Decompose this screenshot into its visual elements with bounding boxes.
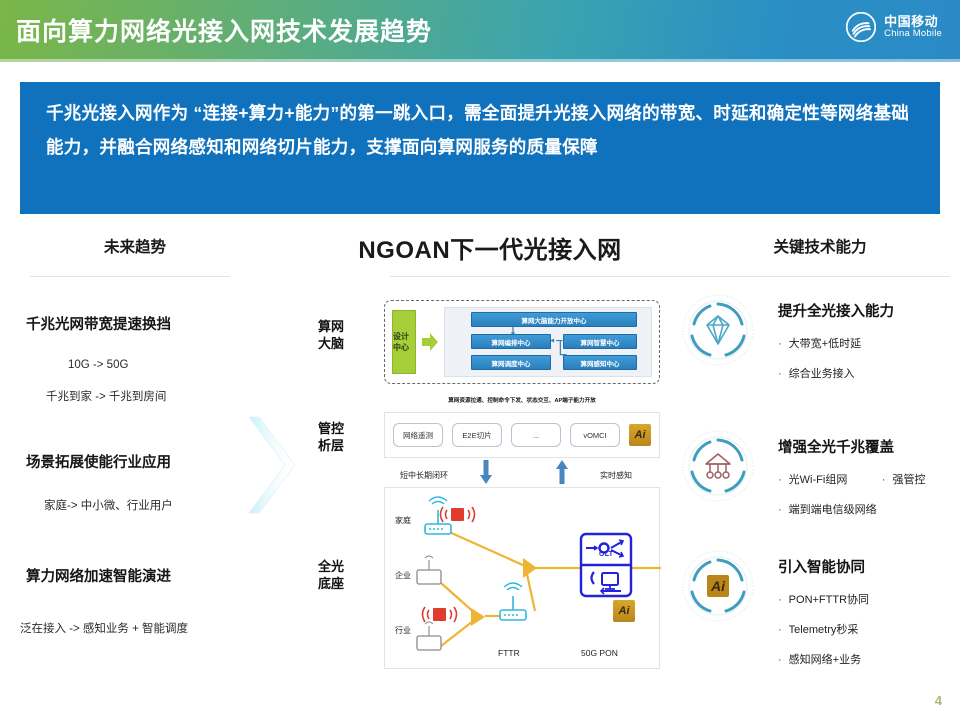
bullet-dot-icon: · xyxy=(882,474,886,486)
chevron-arrow-icon xyxy=(245,415,303,515)
layer-label-base: 全光 底座 xyxy=(318,558,344,592)
green-arrow-icon xyxy=(422,332,438,352)
page-title: 面向算力网络光接入网技术发展趋势 xyxy=(16,12,432,48)
base-row-label-industry: 行业 xyxy=(395,625,411,636)
control-item-vomci: vOMCI xyxy=(570,423,620,447)
diamond-icon xyxy=(680,292,756,368)
layer-label-control: 管控 析层 xyxy=(318,420,344,454)
bullet-row: ·端到端电信级网络 xyxy=(778,500,925,530)
trend-title-3: 算力网络加速智能演进 xyxy=(26,565,171,586)
trend-detail-2-1: 家庭-> 中小微、行业用户 xyxy=(44,497,173,513)
trend-detail-1-2: 千兆到家 -> 千兆到房间 xyxy=(46,388,166,404)
trend-detail-3-1: 泛在接入 -> 感知业务 + 智能调度 xyxy=(20,620,188,636)
control-item-e2e-slice: E2E切片 xyxy=(452,423,502,447)
brain-box-orchestration: 算网编排中心 xyxy=(471,334,551,349)
bullet-row: ·PON+FTTR协同 xyxy=(778,590,869,620)
capability-title-1: 提升全光接入能力 xyxy=(778,300,894,321)
layer-label-base-line2: 底座 xyxy=(318,575,344,592)
brain-box-schedule: 算网调度中心 xyxy=(471,355,551,370)
layer-label-control-line2: 析层 xyxy=(318,437,344,454)
bullet-row: ·感知网络+业务 xyxy=(778,650,869,680)
trend-title-1: 千兆光网带宽提速换挡 xyxy=(26,313,171,334)
control-item-telemetry: 网络遥测 xyxy=(393,423,443,447)
list-item: ·端到端电信级网络 xyxy=(778,501,877,517)
list-item: ·Telemetry秒采 xyxy=(778,621,858,637)
capability-title-2: 增强全光千兆覆盖 xyxy=(778,436,894,457)
base-layer-panel: 家庭 企业 行业 FTTR 50G PON OLT Ai xyxy=(384,487,660,669)
bullet-dot-icon: · xyxy=(778,624,782,636)
trend-title-2: 场景拓展使能行业应用 xyxy=(26,451,171,472)
base-row-label-home: 家庭 xyxy=(395,515,411,526)
base-row-label-enterprise: 企业 xyxy=(395,570,411,581)
brand-logo: 中国移动 China Mobile xyxy=(846,12,942,42)
brain-layer-panel: 设计中心 算网大脑能力开放中心 算网编排中心 算网智慧中心 算网调度中心 算网感… xyxy=(384,300,660,384)
base-ai-badge-icon: Ai xyxy=(613,600,635,622)
design-center-box: 设计中心 xyxy=(392,310,416,374)
page-number: 4 xyxy=(935,693,942,708)
column-header-ngoan: NGOAN下一代光接入网 xyxy=(300,230,680,265)
loop-label-right: 实时感知 xyxy=(600,470,632,481)
list-item: ·光Wi-Fi组网 xyxy=(778,471,847,487)
bullet-dot-icon: · xyxy=(778,368,782,380)
base-network-diagram xyxy=(385,488,661,670)
bullet-dot-icon: · xyxy=(778,654,782,666)
divider-left xyxy=(30,276,230,277)
base-caption-pon: 50G PON xyxy=(581,648,618,658)
layer-label-brain-line2: 大脑 xyxy=(318,335,344,352)
layer-label-base-line1: 全光 xyxy=(318,558,344,575)
brand-name-cn: 中国移动 xyxy=(884,15,942,29)
capability-bullets-3: ·PON+FTTR协同 ·Telemetry秒采 ·感知网络+业务 xyxy=(778,590,869,680)
ai-icon: Ai xyxy=(680,548,756,624)
bullet-row: ·大带宽+低时延 xyxy=(778,334,861,364)
list-item: ·强管控 xyxy=(882,471,926,487)
ai-badge-icon: Ai xyxy=(629,424,651,446)
capability-bullets-2: ·光Wi-Fi组网 ·强管控 ·端到端电信级网络 xyxy=(778,470,925,530)
bullet-dot-icon: · xyxy=(778,474,782,486)
list-item: ·大带宽+低时延 xyxy=(778,335,861,351)
layer-label-control-line1: 管控 xyxy=(318,420,344,437)
control-item-ellipsis: ... xyxy=(511,423,561,447)
summary-banner-text: 千兆光接入网作为 “连接+算力+能力”的第一跳入口，需全面提升光接入网络的带宽、… xyxy=(46,96,914,164)
bullet-dot-icon: · xyxy=(778,504,782,516)
brain-box-sense: 算网感知中心 xyxy=(563,355,637,370)
layer-label-brain: 算网 大脑 xyxy=(318,318,344,352)
bullet-dot-icon: · xyxy=(778,338,782,350)
list-item: ·综合业务接入 xyxy=(778,365,855,381)
bullet-row: ·Telemetry秒采 xyxy=(778,620,869,650)
brain-box-smart: 算网智慧中心 xyxy=(563,334,637,349)
bullet-dot-icon: · xyxy=(778,594,782,606)
brand-name-en: China Mobile xyxy=(884,29,942,39)
column-header-trends: 未来趋势 xyxy=(30,235,240,257)
list-item: ·PON+FTTR协同 xyxy=(778,591,869,607)
control-layer-panel: 网络遥测 E2E切片 ... vOMCI Ai xyxy=(384,412,660,458)
svg-text:Ai: Ai xyxy=(710,578,726,594)
divider-center xyxy=(390,276,680,277)
brand-logo-text: 中国移动 China Mobile xyxy=(884,15,942,39)
bullet-row: ·综合业务接入 xyxy=(778,364,861,394)
divider-right xyxy=(670,276,950,277)
bullet-row: ·光Wi-Fi组网 ·强管控 xyxy=(778,470,925,500)
summary-banner: 千兆光接入网作为 “连接+算力+能力”的第一跳入口，需全面提升光接入网络的带宽、… xyxy=(20,82,940,214)
list-item: ·感知网络+业务 xyxy=(778,651,861,667)
page-header: 面向算力网络光接入网技术发展趋势 中国移动 China Mobile xyxy=(0,0,960,59)
brain-inner-panel: 算网大脑能力开放中心 算网编排中心 算网智慧中心 算网调度中心 算网感知中心 xyxy=(444,307,652,377)
network-topology-icon xyxy=(680,428,756,504)
brain-caption: 算网资源拉通、控制命令下发、状态交互、AP端子能力开放 xyxy=(384,396,660,404)
trend-detail-1-1: 10G -> 50G xyxy=(68,359,128,371)
brain-box-open: 算网大脑能力开放中心 xyxy=(471,312,637,327)
loop-label-left: 短中长期闭环 xyxy=(400,470,448,481)
layer-label-brain-line1: 算网 xyxy=(318,318,344,335)
capability-title-3: 引入智能协同 xyxy=(778,556,865,577)
china-mobile-logo-icon xyxy=(846,12,876,42)
header-underline xyxy=(0,59,960,62)
olt-label: OLT xyxy=(599,551,613,558)
base-caption-fttr: FTTR xyxy=(498,648,520,658)
capability-bullets-1: ·大带宽+低时延 ·综合业务接入 xyxy=(778,334,861,394)
column-header-keytech: 关键技术能力 xyxy=(700,235,940,257)
